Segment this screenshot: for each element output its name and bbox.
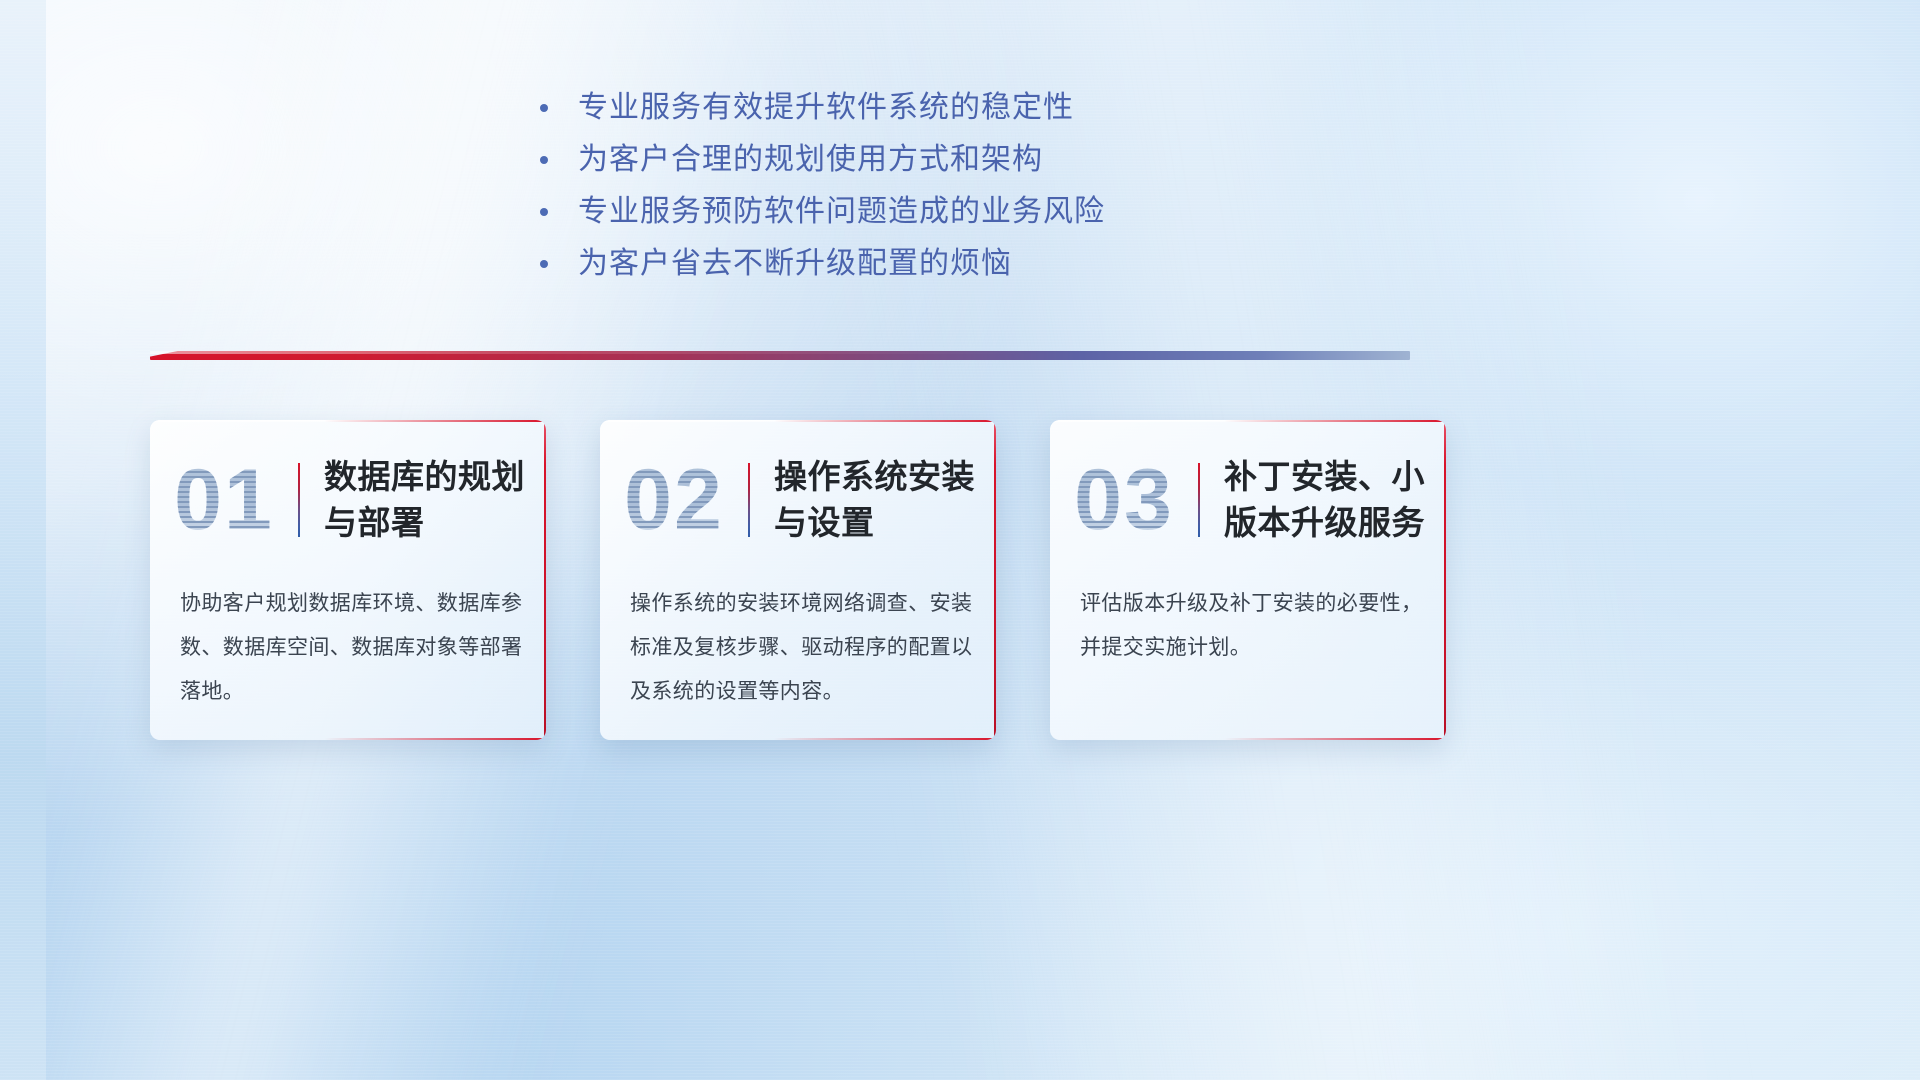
card-description: 协助客户规划数据库环境、数据库参数、数据库空间、数据库对象等部署落地。: [180, 582, 524, 714]
benefits-bullet-list: 专业服务有效提升软件系统的稳定性 为客户合理的规划使用方式和架构 专业服务预防软…: [540, 86, 1300, 294]
service-card[interactable]: 01 数据库的规划与部署 协助客户规划数据库环境、数据库参数、数据库空间、数据库…: [150, 420, 546, 740]
service-card[interactable]: 03 补丁安装、小版本升级服务 评估版本升级及补丁安装的必要性，并提交实施计划。: [1050, 420, 1446, 740]
card-title: 补丁安装、小版本升级服务: [1200, 454, 1446, 546]
card-accent-top: [1224, 420, 1446, 422]
card-number: 02: [600, 457, 748, 543]
list-item: 为客户合理的规划使用方式和架构: [540, 138, 1300, 190]
card-accent-bottom: [324, 738, 546, 740]
card-accent-bottom: [774, 738, 996, 740]
bullet-text: 专业服务有效提升软件系统的稳定性: [578, 86, 1074, 130]
bullet-text: 为客户合理的规划使用方式和架构: [578, 138, 1043, 182]
bullet-text: 专业服务预防软件问题造成的业务风险: [578, 190, 1105, 234]
bullet-dot-icon: [540, 156, 548, 164]
list-item: 专业服务预防软件问题造成的业务风险: [540, 190, 1300, 242]
section-divider: [150, 351, 1410, 360]
card-title: 操作系统安装与设置: [750, 454, 996, 546]
bullet-text: 为客户省去不断升级配置的烦恼: [578, 242, 1012, 286]
card-title: 数据库的规划与部署: [300, 454, 546, 546]
list-item: 为客户省去不断升级配置的烦恼: [540, 242, 1300, 294]
bullet-dot-icon: [540, 260, 548, 268]
list-item: 专业服务有效提升软件系统的稳定性: [540, 86, 1300, 138]
card-header: 01 数据库的规划与部署: [150, 442, 546, 558]
card-accent-top: [324, 420, 546, 422]
service-card[interactable]: 02 操作系统安装与设置 操作系统的安装环境网络调查、安装标准及复核步骤、驱动程…: [600, 420, 996, 740]
card-description: 评估版本升级及补丁安装的必要性，并提交实施计划。: [1080, 582, 1424, 670]
card-header: 02 操作系统安装与设置: [600, 442, 996, 558]
card-accent-bottom: [1224, 738, 1446, 740]
service-card-group: 01 数据库的规划与部署 协助客户规划数据库环境、数据库参数、数据库空间、数据库…: [150, 420, 1450, 745]
bullet-dot-icon: [540, 208, 548, 216]
card-accent-top: [774, 420, 996, 422]
card-number: 01: [150, 457, 298, 543]
bullet-dot-icon: [540, 104, 548, 112]
card-number: 03: [1050, 457, 1198, 543]
slide-canvas: 专业服务有效提升软件系统的稳定性 为客户合理的规划使用方式和架构 专业服务预防软…: [0, 0, 1920, 1080]
card-header: 03 补丁安装、小版本升级服务: [1050, 442, 1446, 558]
divider-highlight: [150, 351, 1410, 354]
card-description: 操作系统的安装环境网络调查、安装标准及复核步骤、驱动程序的配置以及系统的设置等内…: [630, 582, 974, 714]
